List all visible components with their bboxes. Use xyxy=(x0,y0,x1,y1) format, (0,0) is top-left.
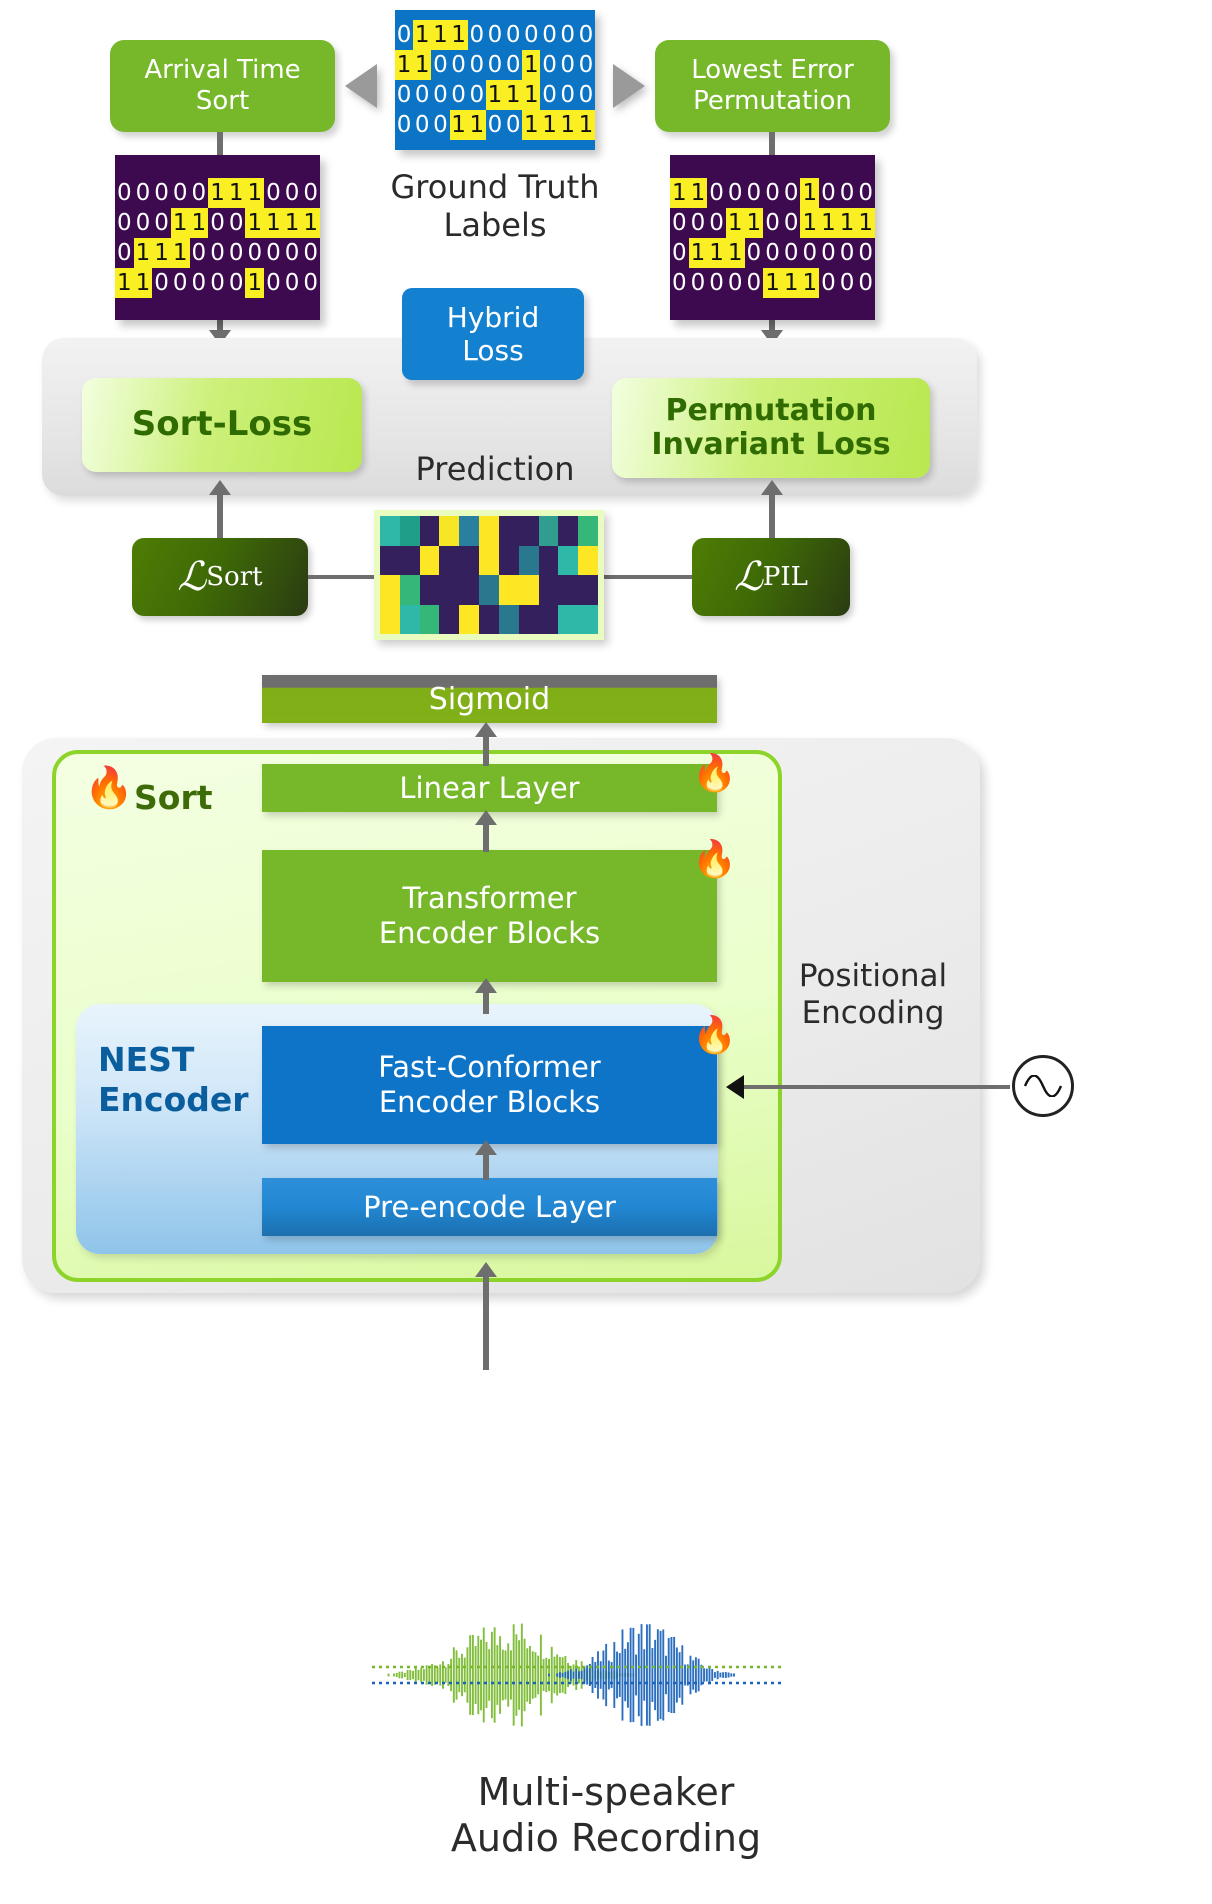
matrix-cell-one: 1 xyxy=(134,238,153,268)
nest-encoder-label: NEST Encoder xyxy=(98,1040,268,1121)
matrix-cell-zero: 0 xyxy=(134,178,153,208)
lowest-error-permutation-label: Lowest Error Permutation xyxy=(691,55,854,116)
connector-transformer-to-linear xyxy=(483,824,489,852)
prediction-cell xyxy=(380,516,400,546)
connector-pred-to-l-sort xyxy=(308,575,378,579)
prediction-cell xyxy=(400,516,420,546)
matrix-cell-zero: 0 xyxy=(283,238,302,268)
matrix-cell-zero: 0 xyxy=(838,238,857,268)
sort-loss-label: Sort-Loss xyxy=(132,405,312,444)
matrix-cell-zero: 0 xyxy=(522,20,540,50)
matrix-cell-zero: 0 xyxy=(856,268,875,298)
matrix-cell-zero: 0 xyxy=(227,268,246,298)
matrix-cell-one: 1 xyxy=(670,178,689,208)
sine-wave-icon xyxy=(1023,1075,1063,1097)
matrix-cell-zero: 0 xyxy=(264,268,283,298)
prediction-cell xyxy=(499,546,519,576)
prediction-cell xyxy=(519,516,539,546)
linear-layer-box[interactable]: Linear Layer xyxy=(262,764,717,812)
matrix-row: 00000111000 xyxy=(670,268,875,298)
matrix-cell-one: 1 xyxy=(245,208,264,238)
matrix-cell-zero: 0 xyxy=(115,238,134,268)
matrix-cell-one: 1 xyxy=(763,268,782,298)
l-pil-box[interactable]: ℒPIL xyxy=(692,538,850,616)
prediction-cell xyxy=(380,575,400,605)
matrix-cell-one: 1 xyxy=(171,208,190,238)
prediction-cell xyxy=(479,516,499,546)
l-sort-subscript: Sort xyxy=(206,562,262,592)
prediction-cell xyxy=(400,546,420,576)
matrix-cell-zero: 0 xyxy=(504,20,522,50)
prediction-cell xyxy=(539,546,559,576)
connector-audio-to-preencode xyxy=(483,1275,489,1370)
matrix-cell-zero: 0 xyxy=(856,238,875,268)
fast-conformer-encoder-blocks-box[interactable]: Fast-Conformer Encoder Blocks xyxy=(262,1026,717,1144)
matrix-cell-zero: 0 xyxy=(689,208,708,238)
matrix-cell-zero: 0 xyxy=(301,268,320,298)
matrix-cell-one: 1 xyxy=(800,268,819,298)
prediction-cell xyxy=(578,575,598,605)
fast-conformer-flame-icon: 🔥 xyxy=(692,1018,737,1054)
matrix-cell-zero: 0 xyxy=(264,238,283,268)
ground-truth-matrix: 0111000000011000001000000001110000001100… xyxy=(395,10,595,150)
matrix-cell-zero: 0 xyxy=(745,238,764,268)
matrix-cell-zero: 0 xyxy=(577,80,595,110)
matrix-cell-one: 1 xyxy=(800,178,819,208)
matrix-cell-zero: 0 xyxy=(227,238,246,268)
matrix-cell-zero: 0 xyxy=(301,178,320,208)
matrix-cell-one: 1 xyxy=(486,80,504,110)
matrix-cell-zero: 0 xyxy=(190,238,209,268)
matrix-row: 00000111000 xyxy=(115,178,320,208)
matrix-cell-one: 1 xyxy=(707,238,726,268)
matrix-cell-zero: 0 xyxy=(301,238,320,268)
matrix-cell-one: 1 xyxy=(431,20,449,50)
matrix-cell-zero: 0 xyxy=(819,178,838,208)
connector-nest-to-transformer xyxy=(483,992,489,1014)
arrowhead-audio-to-preencode-icon xyxy=(475,1262,497,1277)
arrowhead-nest-to-transformer-icon xyxy=(475,978,497,993)
arrival-sorted-matrix: 0000011100000011001111011100000001100000… xyxy=(115,155,320,320)
matrix-cell-zero: 0 xyxy=(540,20,558,50)
prediction-cell xyxy=(420,516,440,546)
matrix-row: 01110000000 xyxy=(395,20,595,50)
hybrid-loss-box[interactable]: Hybrid Loss xyxy=(402,288,584,380)
matrix-cell-zero: 0 xyxy=(208,238,227,268)
matrix-cell-one: 1 xyxy=(413,20,431,50)
matrix-cell-one: 1 xyxy=(301,208,320,238)
transformer-encoder-blocks-box[interactable]: Transformer Encoder Blocks xyxy=(262,850,717,982)
prediction-cell xyxy=(459,605,479,635)
matrix-cell-zero: 0 xyxy=(559,20,577,50)
prediction-cell xyxy=(519,575,539,605)
matrix-cell-zero: 0 xyxy=(838,268,857,298)
pil-loss-label: Permutation Invariant Loss xyxy=(651,394,890,463)
matrix-cell-zero: 0 xyxy=(782,238,801,268)
matrix-cell-zero: 0 xyxy=(763,238,782,268)
prediction-cell xyxy=(400,575,420,605)
matrix-cell-zero: 0 xyxy=(726,178,745,208)
matrix-cell-zero: 0 xyxy=(283,268,302,298)
matrix-cell-one: 1 xyxy=(504,80,522,110)
prediction-cell xyxy=(380,605,400,635)
lowest-error-matrix: 1100000100000011001111011100000000000011… xyxy=(670,155,875,320)
matrix-cell-zero: 0 xyxy=(227,208,246,238)
prediction-cell xyxy=(519,546,539,576)
prediction-cell xyxy=(420,605,440,635)
prediction-cell xyxy=(380,546,400,576)
prediction-cell xyxy=(439,546,459,576)
matrix-cell-zero: 0 xyxy=(486,110,504,140)
matrix-cell-one: 1 xyxy=(283,208,302,238)
matrix-cell-zero: 0 xyxy=(707,208,726,238)
matrix-cell-zero: 0 xyxy=(670,268,689,298)
matrix-cell-zero: 0 xyxy=(707,268,726,298)
matrix-cell-zero: 0 xyxy=(782,178,801,208)
prediction-cell xyxy=(558,605,578,635)
arrow-to-arrival-sort-icon xyxy=(345,64,377,108)
prediction-cell xyxy=(459,575,479,605)
matrix-cell-zero: 0 xyxy=(468,20,486,50)
connector-pe-to-conformer xyxy=(742,1085,1010,1089)
matrix-cell-zero: 0 xyxy=(171,268,190,298)
connector-arrival-sort-lower xyxy=(217,318,223,338)
matrix-cell-zero: 0 xyxy=(577,50,595,80)
matrix-cell-zero: 0 xyxy=(486,50,504,80)
matrix-cell-zero: 0 xyxy=(152,268,171,298)
hybrid-loss-label: Hybrid Loss xyxy=(447,301,539,367)
linear-layer-flame-icon: 🔥 xyxy=(692,756,737,792)
l-sort-symbol: ℒ xyxy=(177,554,206,600)
waveform-icon xyxy=(368,1610,788,1740)
matrix-cell-zero: 0 xyxy=(689,268,708,298)
matrix-cell-zero: 0 xyxy=(540,50,558,80)
sort-loss-box[interactable]: Sort-Loss xyxy=(82,378,362,472)
matrix-row: 11000001000 xyxy=(395,50,595,80)
prediction-cell xyxy=(519,605,539,635)
arrowhead-preencode-to-conformer-icon xyxy=(475,1140,497,1155)
matrix-cell-one: 1 xyxy=(450,110,468,140)
matrix-cell-zero: 0 xyxy=(152,178,171,208)
pre-encode-layer-label: Pre-encode Layer xyxy=(363,1190,616,1224)
matrix-cell-zero: 0 xyxy=(782,208,801,238)
prediction-cell xyxy=(459,546,479,576)
matrix-cell-zero: 0 xyxy=(115,178,134,208)
matrix-row: 00011001111 xyxy=(670,208,875,238)
matrix-cell-zero: 0 xyxy=(395,110,413,140)
matrix-cell-zero: 0 xyxy=(559,50,577,80)
prediction-cell xyxy=(578,516,598,546)
matrix-cell-one: 1 xyxy=(577,110,595,140)
matrix-cell-zero: 0 xyxy=(431,80,449,110)
matrix-cell-zero: 0 xyxy=(413,110,431,140)
prediction-cell xyxy=(439,605,459,635)
matrix-cell-zero: 0 xyxy=(190,268,209,298)
matrix-cell-zero: 0 xyxy=(395,80,413,110)
matrix-cell-zero: 0 xyxy=(763,208,782,238)
matrix-cell-zero: 0 xyxy=(707,178,726,208)
matrix-cell-one: 1 xyxy=(522,80,540,110)
matrix-row: 01110000000 xyxy=(115,238,320,268)
prediction-cell xyxy=(539,575,559,605)
matrix-cell-one: 1 xyxy=(800,208,819,238)
matrix-cell-zero: 0 xyxy=(245,238,264,268)
matrix-cell-zero: 0 xyxy=(726,268,745,298)
lowest-error-permutation-box[interactable]: Lowest Error Permutation xyxy=(655,40,890,132)
matrix-row: 01110000000 xyxy=(670,238,875,268)
matrix-row: 11000001000 xyxy=(115,268,320,298)
matrix-cell-zero: 0 xyxy=(745,178,764,208)
prediction-cell xyxy=(499,516,519,546)
prediction-label: Prediction xyxy=(400,450,590,488)
connector-lowest-error-lower xyxy=(769,318,775,338)
matrix-cell-zero: 0 xyxy=(450,50,468,80)
prediction-cell xyxy=(558,516,578,546)
matrix-cell-zero: 0 xyxy=(413,80,431,110)
matrix-cell-zero: 0 xyxy=(670,238,689,268)
sort-panel-flame-icon: 🔥 xyxy=(84,768,134,808)
matrix-cell-zero: 0 xyxy=(559,80,577,110)
matrix-cell-one: 1 xyxy=(745,208,764,238)
matrix-cell-zero: 0 xyxy=(431,110,449,140)
matrix-cell-zero: 0 xyxy=(504,50,522,80)
matrix-cell-one: 1 xyxy=(413,50,431,80)
matrix-cell-zero: 0 xyxy=(838,178,857,208)
matrix-cell-zero: 0 xyxy=(819,268,838,298)
matrix-cell-one: 1 xyxy=(856,208,875,238)
sigmoid-label: Sigmoid xyxy=(429,682,550,717)
matrix-cell-zero: 0 xyxy=(540,80,558,110)
matrix-cell-one: 1 xyxy=(264,208,283,238)
linear-layer-label: Linear Layer xyxy=(399,771,579,806)
matrix-cell-one: 1 xyxy=(171,238,190,268)
l-pil-subscript: PIL xyxy=(763,562,808,592)
matrix-cell-zero: 0 xyxy=(264,178,283,208)
matrix-cell-one: 1 xyxy=(190,208,209,238)
prediction-cell xyxy=(459,516,479,546)
matrix-cell-one: 1 xyxy=(726,208,745,238)
sort-panel-label: Sort xyxy=(134,778,213,817)
matrix-cell-zero: 0 xyxy=(468,80,486,110)
matrix-cell-zero: 0 xyxy=(152,208,171,238)
sigmoid-layer[interactable]: Sigmoid xyxy=(262,675,717,723)
matrix-row: 00000111000 xyxy=(395,80,595,110)
prediction-cell xyxy=(479,575,499,605)
prediction-cell xyxy=(420,575,440,605)
prediction-cell xyxy=(479,546,499,576)
matrix-row: 00011001111 xyxy=(115,208,320,238)
pil-loss-box[interactable]: Permutation Invariant Loss xyxy=(612,378,930,478)
matrix-cell-zero: 0 xyxy=(450,80,468,110)
arrow-to-lowest-error-icon xyxy=(613,64,645,108)
prediction-cell xyxy=(499,575,519,605)
matrix-cell-one: 1 xyxy=(134,268,153,298)
prediction-cell xyxy=(499,605,519,635)
matrix-cell-zero: 0 xyxy=(190,178,209,208)
transformer-encoder-blocks-label: Transformer Encoder Blocks xyxy=(379,881,600,951)
prediction-cell xyxy=(578,546,598,576)
matrix-cell-zero: 0 xyxy=(171,178,190,208)
prediction-cell xyxy=(578,605,598,635)
matrix-cell-one: 1 xyxy=(245,268,264,298)
ground-truth-caption: Ground Truth Labels xyxy=(370,168,620,245)
connector-l-sort-up xyxy=(217,492,223,538)
arrowhead-l-pil-icon xyxy=(761,480,783,495)
prediction-cell xyxy=(439,575,459,605)
matrix-cell-one: 1 xyxy=(450,20,468,50)
connector-pred-to-l-pil xyxy=(604,575,692,579)
matrix-cell-zero: 0 xyxy=(577,20,595,50)
arrowhead-pe-to-conformer-icon xyxy=(726,1075,744,1099)
arrival-time-sort-box[interactable]: Arrival Time Sort xyxy=(110,40,335,132)
connector-l-pil-up xyxy=(769,492,775,538)
matrix-cell-one: 1 xyxy=(559,110,577,140)
arrival-time-sort-label: Arrival Time Sort xyxy=(144,55,300,116)
matrix-cell-one: 1 xyxy=(468,110,486,140)
matrix-cell-zero: 0 xyxy=(208,208,227,238)
prediction-cell xyxy=(420,546,440,576)
matrix-cell-one: 1 xyxy=(522,50,540,80)
matrix-row: 11000001000 xyxy=(670,178,875,208)
matrix-cell-zero: 0 xyxy=(115,208,134,238)
matrix-cell-one: 1 xyxy=(115,268,134,298)
arrowhead-transformer-to-linear-icon xyxy=(475,810,497,825)
matrix-cell-zero: 0 xyxy=(670,208,689,238)
l-pil-symbol: ℒ xyxy=(734,554,763,600)
matrix-cell-one: 1 xyxy=(819,208,838,238)
prediction-cell xyxy=(479,605,499,635)
matrix-cell-zero: 0 xyxy=(745,268,764,298)
arrowhead-l-sort-icon xyxy=(209,480,231,495)
matrix-cell-one: 1 xyxy=(208,178,227,208)
matrix-cell-zero: 0 xyxy=(504,110,522,140)
prediction-cell xyxy=(400,605,420,635)
matrix-cell-one: 1 xyxy=(540,110,558,140)
fast-conformer-label: Fast-Conformer Encoder Blocks xyxy=(378,1050,600,1120)
matrix-cell-one: 1 xyxy=(227,178,246,208)
matrix-cell-zero: 0 xyxy=(819,238,838,268)
matrix-cell-zero: 0 xyxy=(134,208,153,238)
prediction-heatmap xyxy=(374,510,604,640)
positional-encoding-sine-icon xyxy=(1012,1055,1074,1117)
matrix-cell-zero: 0 xyxy=(431,50,449,80)
matrix-cell-zero: 0 xyxy=(468,50,486,80)
matrix-cell-zero: 0 xyxy=(395,20,413,50)
matrix-cell-one: 1 xyxy=(522,110,540,140)
prediction-cell xyxy=(539,605,559,635)
l-sort-box[interactable]: ℒSort xyxy=(132,538,308,616)
prediction-cell xyxy=(539,516,559,546)
prediction-cell xyxy=(439,516,459,546)
matrix-cell-zero: 0 xyxy=(486,20,504,50)
pre-encode-layer-box[interactable]: Pre-encode Layer xyxy=(262,1178,717,1236)
audio-caption: Multi-speaker Audio Recording xyxy=(306,1770,906,1861)
positional-encoding-label: Positional Encoding xyxy=(768,958,978,1032)
matrix-cell-one: 1 xyxy=(782,268,801,298)
audio-waveform-graphic xyxy=(368,1610,788,1744)
matrix-row: 00011001111 xyxy=(395,110,595,140)
matrix-cell-zero: 0 xyxy=(800,238,819,268)
prediction-cell xyxy=(558,575,578,605)
matrix-cell-one: 1 xyxy=(838,208,857,238)
matrix-cell-one: 1 xyxy=(152,238,171,268)
connector-linear-to-sigmoid xyxy=(483,736,489,766)
matrix-cell-one: 1 xyxy=(245,178,264,208)
transformer-flame-icon: 🔥 xyxy=(692,842,737,878)
matrix-cell-one: 1 xyxy=(689,178,708,208)
matrix-cell-zero: 0 xyxy=(856,178,875,208)
arrowhead-linear-to-sigmoid-icon xyxy=(475,722,497,737)
matrix-cell-zero: 0 xyxy=(283,178,302,208)
matrix-cell-zero: 0 xyxy=(208,268,227,298)
connector-preencode-to-conformer xyxy=(483,1152,489,1180)
matrix-cell-one: 1 xyxy=(395,50,413,80)
matrix-cell-one: 1 xyxy=(726,238,745,268)
prediction-cell xyxy=(558,546,578,576)
matrix-cell-one: 1 xyxy=(689,238,708,268)
matrix-cell-zero: 0 xyxy=(763,178,782,208)
